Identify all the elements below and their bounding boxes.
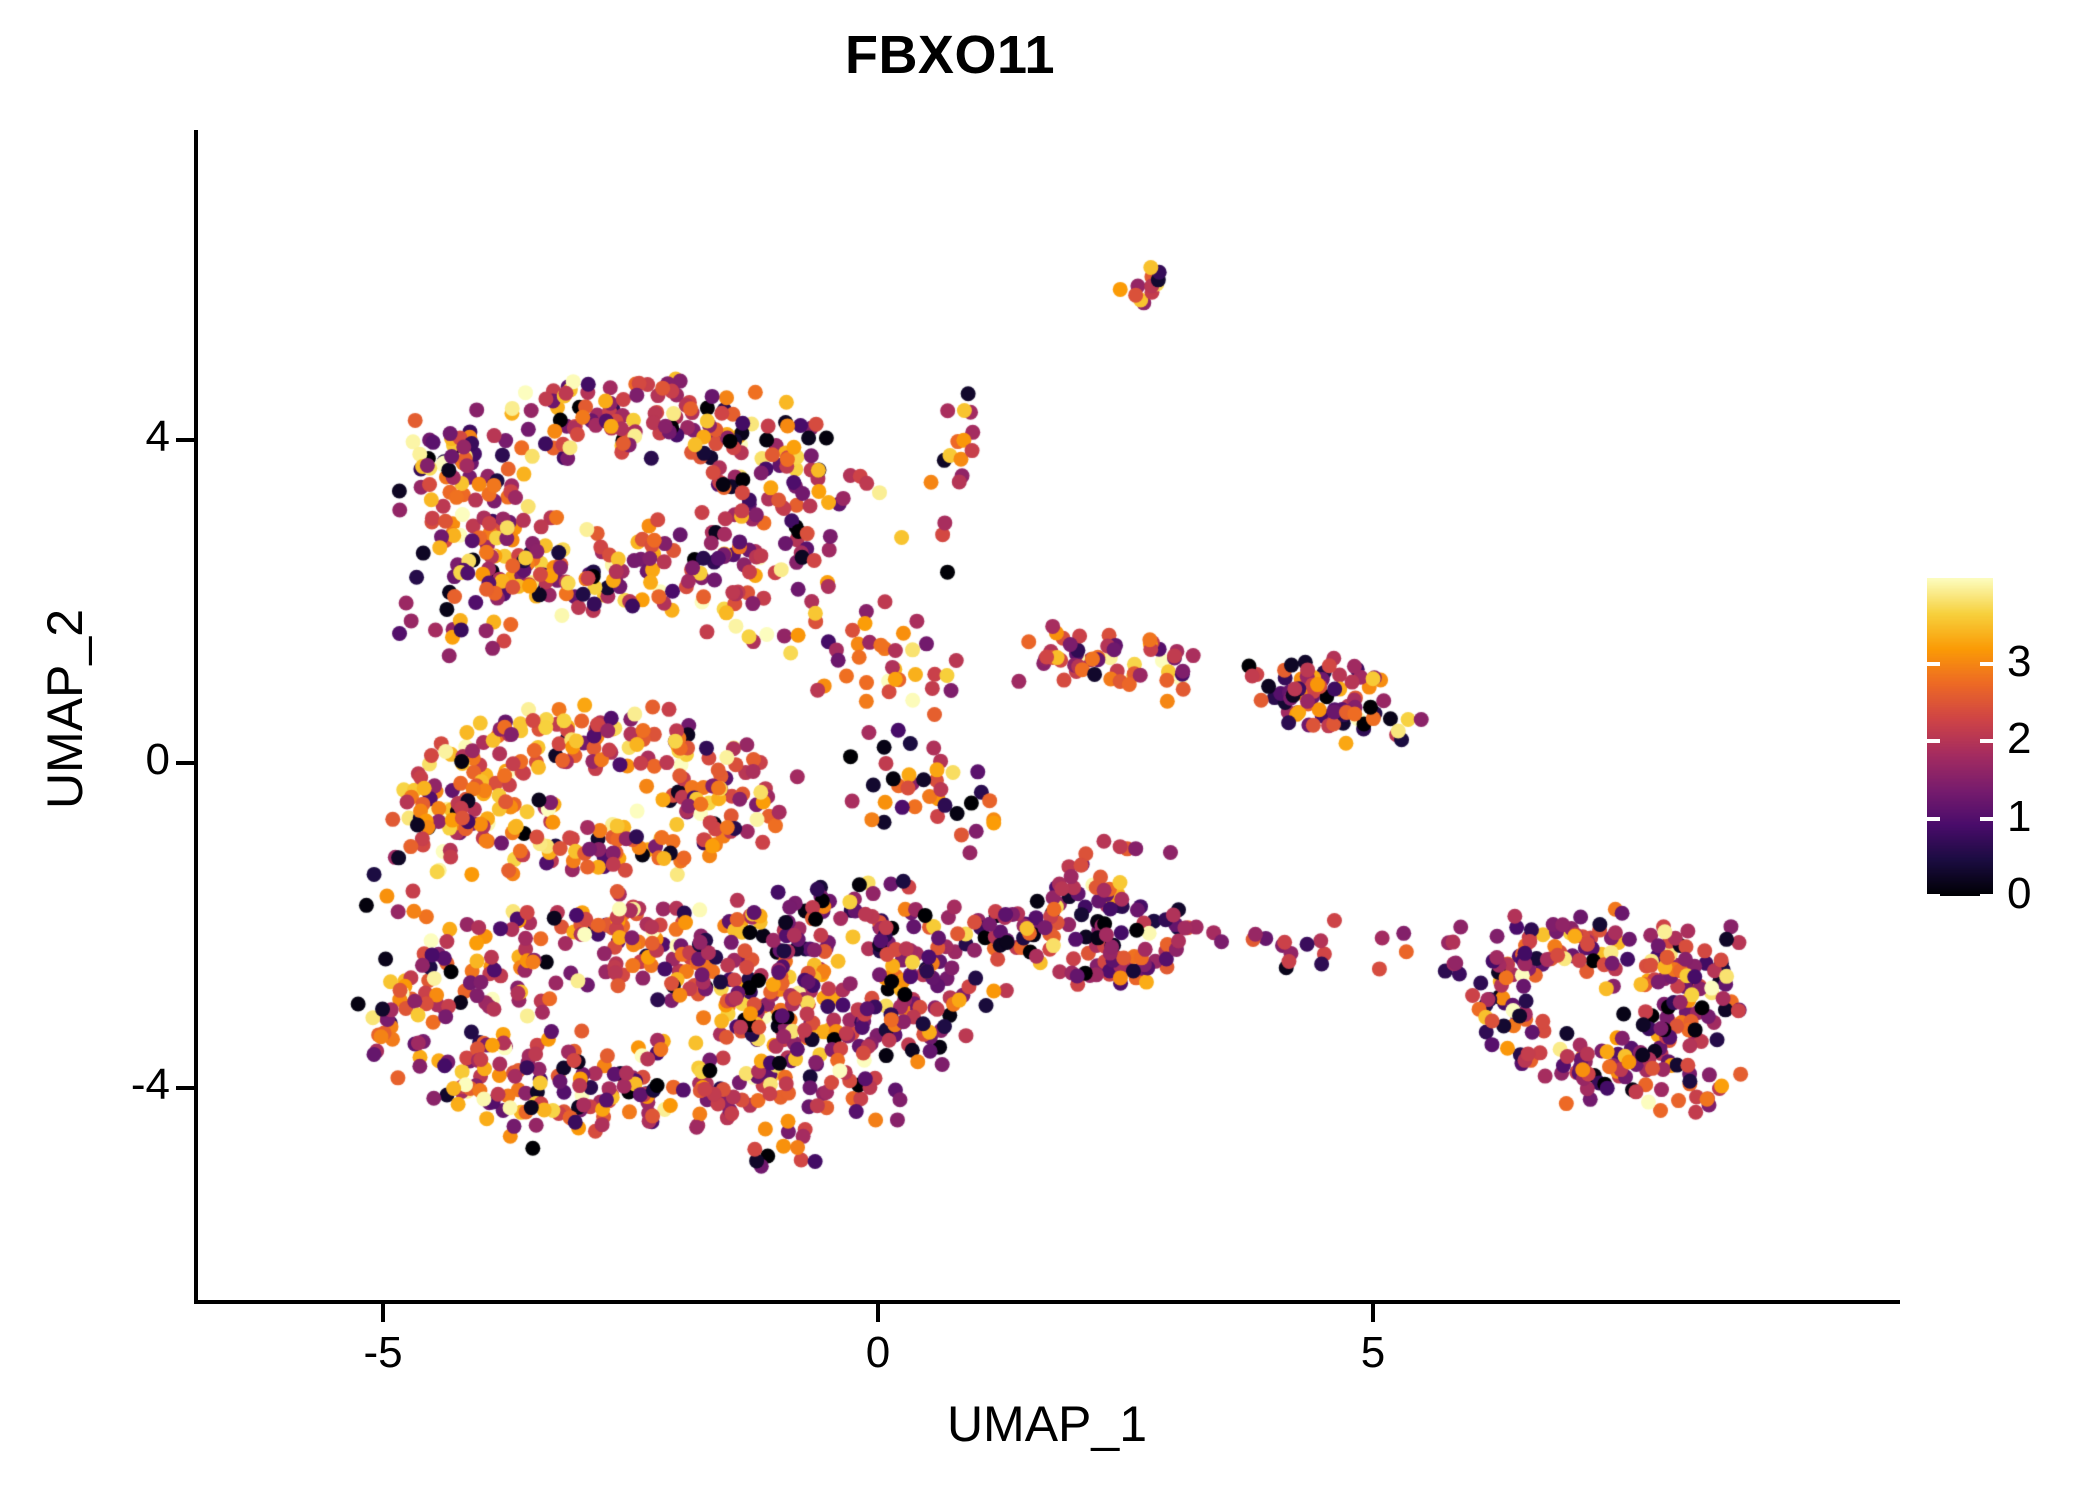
colorbar-gradient [1927, 578, 1993, 896]
colorbar-label-0: 0 [2007, 869, 2031, 919]
y-axis-line [194, 130, 198, 1304]
colorbar-tick-1-left [1927, 817, 1940, 821]
x-ticklabel-0: 0 [798, 1328, 958, 1378]
x-axis-title: UMAP_1 [194, 1395, 1900, 1453]
colorbar-tick-0-right [1980, 894, 1993, 898]
y-tick-4 [176, 438, 194, 442]
colorbar-tick-1-right [1980, 817, 1993, 821]
colorbar-label-1: 1 [2007, 792, 2031, 842]
y-tick-0 [176, 761, 194, 765]
x-ticklabel-neg5: -5 [303, 1328, 463, 1378]
x-tick-neg5 [381, 1304, 385, 1322]
y-tick-neg4 [176, 1086, 194, 1090]
colorbar-tick-0-left [1927, 894, 1940, 898]
x-axis-line [194, 1300, 1900, 1304]
x-ticklabel-5: 5 [1293, 1328, 1453, 1378]
x-tick-5 [1371, 1304, 1375, 1322]
colorbar-tick-3-left [1927, 662, 1940, 666]
colorbar-tick-3-right [1980, 662, 1993, 666]
y-axis-title: UMAP_2 [36, 309, 94, 1109]
colorbar-tick-2-left [1927, 739, 1940, 743]
x-tick-0 [876, 1304, 880, 1322]
colorbar-label-3: 3 [2007, 637, 2031, 687]
plot-page: FBXO11 4 0 -4 -5 0 5 UMAP_1 UMAP_2 3 2 1… [0, 0, 2100, 1500]
page-title: FBXO11 [0, 24, 1900, 86]
scatter-plot-canvas [0, 0, 2100, 1500]
colorbar-label-2: 2 [2007, 714, 2031, 764]
colorbar-legend: 3 2 1 0 [1927, 578, 1993, 896]
colorbar-tick-2-right [1980, 739, 1993, 743]
